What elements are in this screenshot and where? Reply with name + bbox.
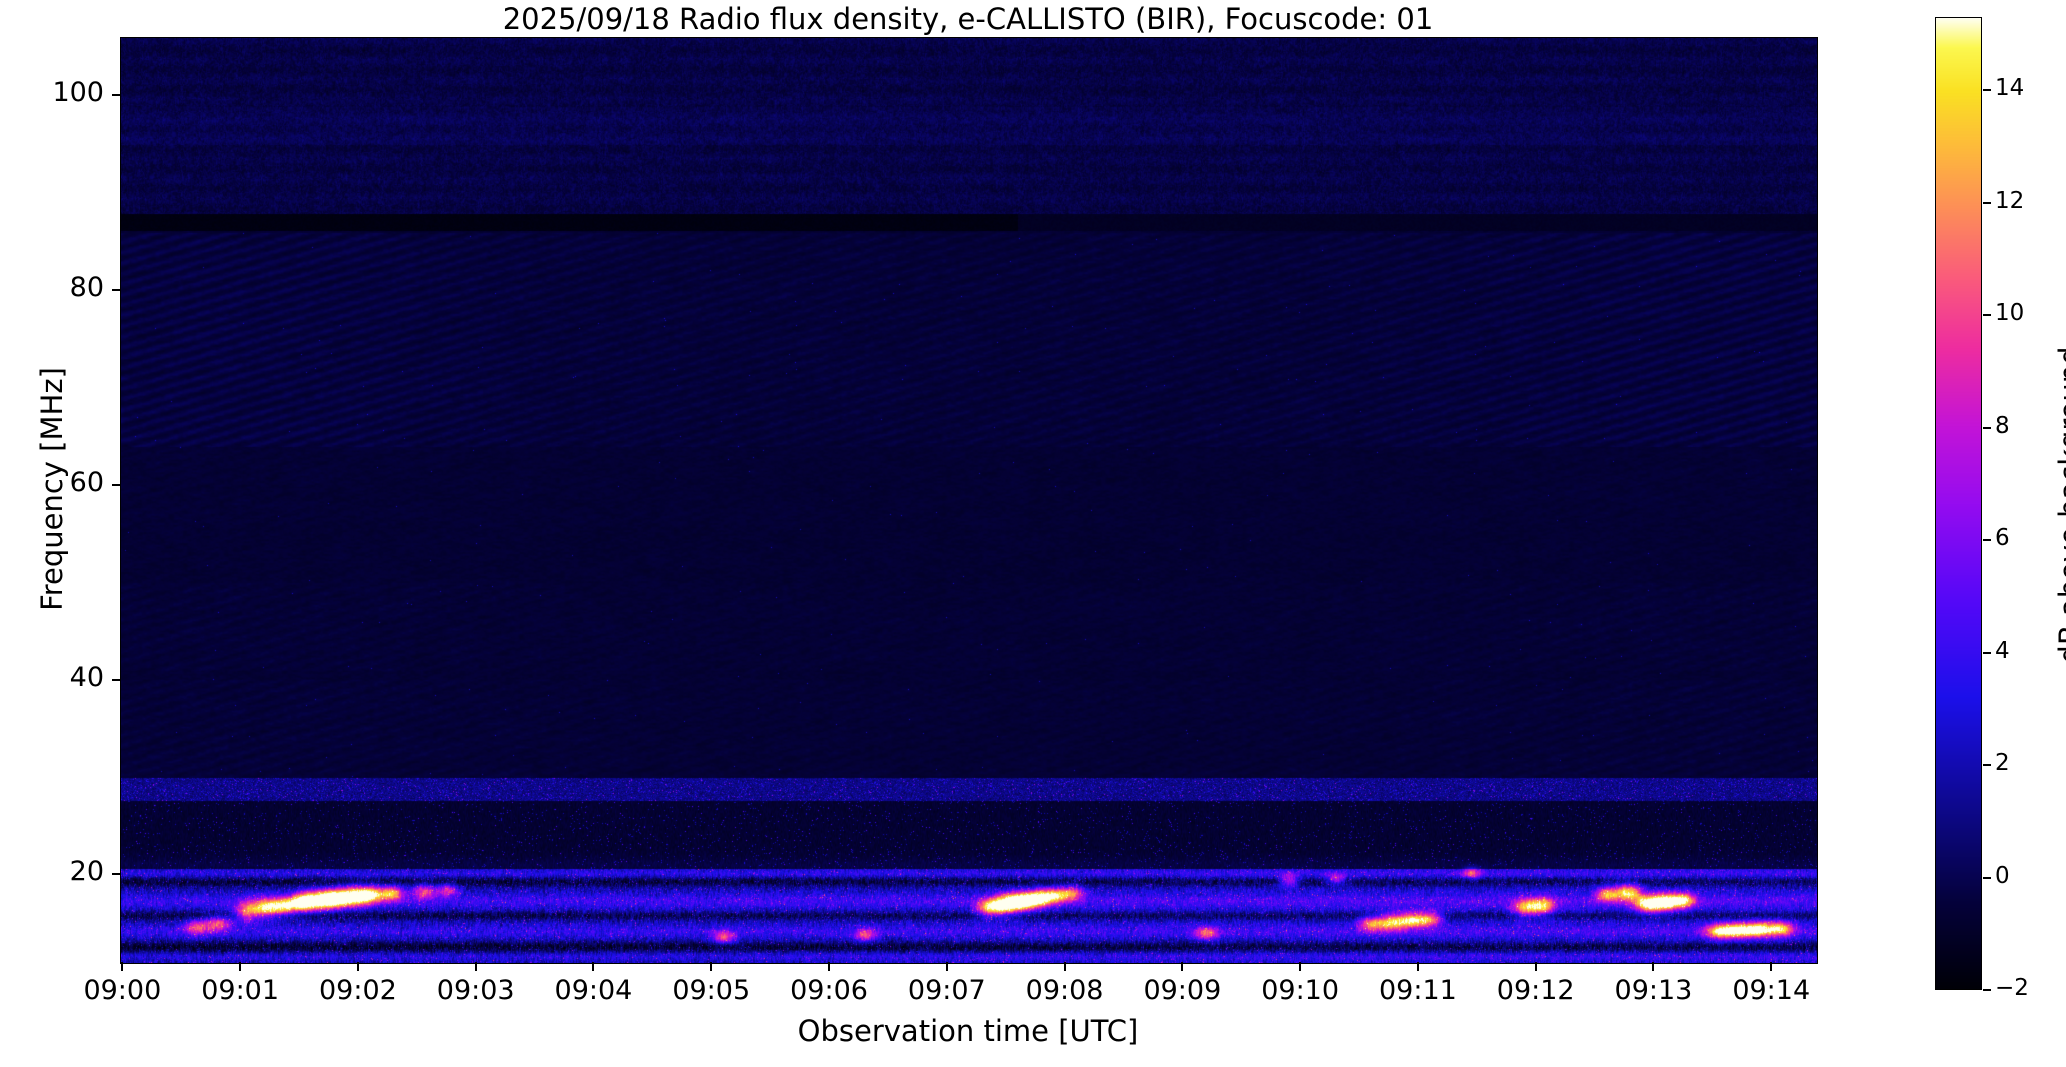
- x-tick-mark: [1770, 962, 1772, 971]
- x-tick-mark: [357, 962, 359, 971]
- colorbar-tick-mark: [1983, 314, 1991, 316]
- y-tick-mark: [112, 94, 120, 96]
- x-tick-mark: [946, 962, 948, 971]
- spectrogram-image: [121, 38, 1817, 963]
- x-tick-label: 09:14: [1701, 975, 1841, 1006]
- y-tick-mark: [112, 484, 120, 486]
- colorbar-tick-label: 10: [1995, 300, 2024, 326]
- x-tick-mark: [1417, 962, 1419, 971]
- x-tick-mark: [1299, 962, 1301, 971]
- x-tick-mark: [475, 962, 477, 971]
- colorbar-tick-mark: [1983, 427, 1991, 429]
- figure-title: 2025/09/18 Radio flux density, e-CALLIST…: [0, 2, 1936, 36]
- y-tick-mark: [112, 679, 120, 681]
- colorbar-tick-label: 2: [1995, 750, 2010, 776]
- colorbar-tick-label: 4: [1995, 638, 2010, 664]
- x-tick-mark: [121, 962, 123, 971]
- colorbar-tick-label: −2: [1995, 975, 2029, 1001]
- x-tick-mark: [710, 962, 712, 971]
- spectrogram-axes: [120, 37, 1818, 964]
- y-tick-mark: [112, 289, 120, 291]
- x-axis-label: Observation time [UTC]: [120, 1014, 1816, 1048]
- x-tick-mark: [239, 962, 241, 971]
- colorbar-tick-mark: [1983, 202, 1991, 204]
- colorbar-tick-mark: [1983, 89, 1991, 91]
- y-tick-mark: [112, 873, 120, 875]
- colorbar-tick-label: 8: [1995, 413, 2010, 439]
- x-tick-mark: [592, 962, 594, 971]
- colorbar-tick-label: 12: [1995, 188, 2024, 214]
- colorbar: [1935, 17, 1982, 990]
- colorbar-tick-label: 14: [1995, 75, 2024, 101]
- x-tick-mark: [1535, 962, 1537, 971]
- colorbar-tick-label: 0: [1995, 863, 2010, 889]
- colorbar-tick-mark: [1983, 539, 1991, 541]
- colorbar-tick-label: 6: [1995, 525, 2010, 551]
- x-tick-mark: [1064, 962, 1066, 971]
- colorbar-tick-mark: [1983, 877, 1991, 879]
- y-axis-label: Frequency [MHz]: [35, 189, 69, 789]
- colorbar-gradient: [1936, 18, 1981, 989]
- colorbar-tick-mark: [1983, 989, 1991, 991]
- x-tick-mark: [828, 962, 830, 971]
- colorbar-label: dB above background: [2053, 225, 2066, 785]
- x-tick-mark: [1181, 962, 1183, 971]
- colorbar-tick-mark: [1983, 764, 1991, 766]
- figure-canvas: 2025/09/18 Radio flux density, e-CALLIST…: [0, 0, 2066, 1067]
- y-tick-label: 20: [0, 856, 104, 887]
- y-tick-label: 100: [0, 77, 104, 108]
- colorbar-tick-mark: [1983, 652, 1991, 654]
- x-tick-mark: [1652, 962, 1654, 971]
